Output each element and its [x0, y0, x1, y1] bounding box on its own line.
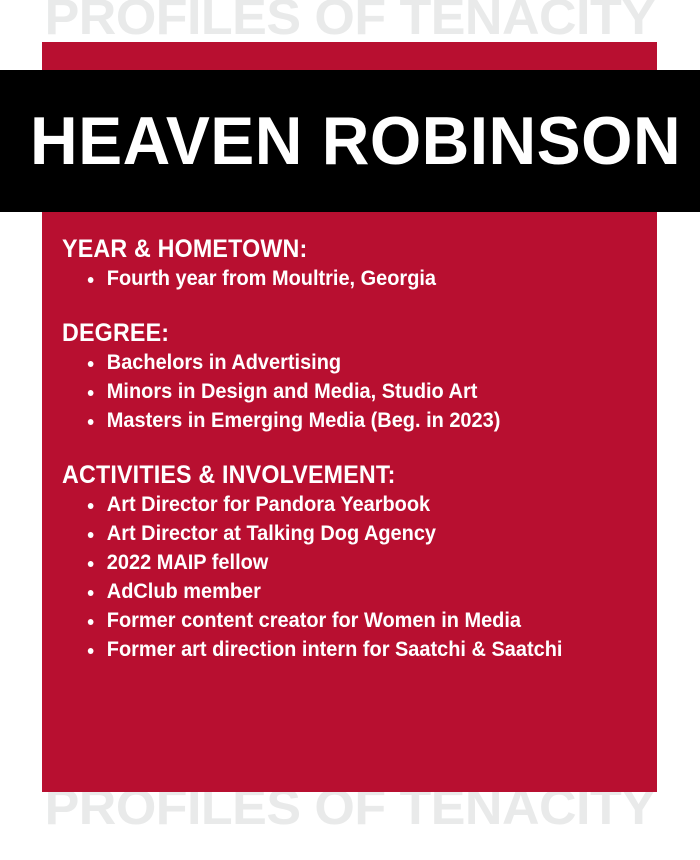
profile-section: ACTIVITIES & INVOLVEMENT:Art Director fo…: [62, 462, 637, 665]
profile-details: YEAR & HOMETOWN:Fourth year from Moultri…: [62, 236, 637, 665]
section-heading: ACTIVITIES & INVOLVEMENT:: [62, 462, 597, 489]
list-item: Art Director at Talking Dog Agency: [84, 520, 609, 549]
section-bullet-list: Art Director for Pandora YearbookArt Dir…: [62, 491, 637, 665]
list-item: Bachelors in Advertising: [84, 349, 609, 378]
profile-section: YEAR & HOMETOWN:Fourth year from Moultri…: [62, 236, 637, 294]
section-bullet-list: Fourth year from Moultrie, Georgia: [62, 265, 637, 294]
profile-section: DEGREE:Bachelors in AdvertisingMinors in…: [62, 320, 637, 436]
list-item: Masters in Emerging Media (Beg. in 2023): [84, 407, 609, 436]
section-heading: DEGREE:: [62, 320, 597, 347]
watermark-line: PROFILES OF TENACITY: [0, 0, 700, 42]
list-item: Fourth year from Moultrie, Georgia: [84, 265, 609, 294]
name-banner: HEAVEN ROBINSON: [0, 70, 700, 212]
section-heading: YEAR & HOMETOWN:: [62, 236, 597, 263]
section-bullet-list: Bachelors in AdvertisingMinors in Design…: [62, 349, 637, 436]
list-item: Art Director for Pandora Yearbook: [84, 491, 609, 520]
profile-poster: PROFILES OF TENACITYPROFILES OF TENACITY…: [0, 0, 700, 860]
list-item: Minors in Design and Media, Studio Art: [84, 378, 609, 407]
page-title: HEAVEN ROBINSON: [30, 107, 681, 175]
list-item: 2022 MAIP fellow: [84, 549, 609, 578]
list-item: AdClub member: [84, 578, 609, 607]
list-item: Former content creator for Women in Medi…: [84, 607, 609, 636]
list-item: Former art direction intern for Saatchi …: [84, 636, 609, 665]
